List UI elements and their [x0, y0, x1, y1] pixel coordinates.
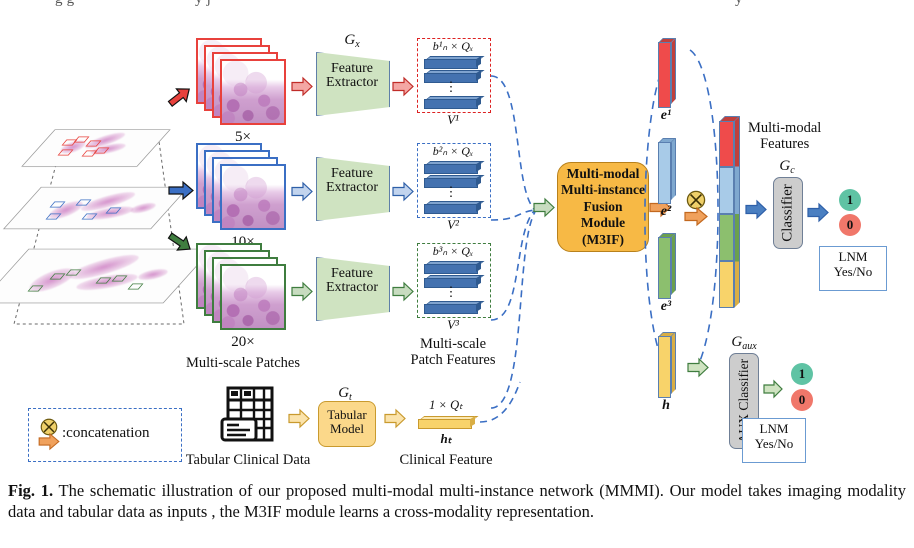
- clinical-feature-link: [478, 380, 538, 430]
- ellipsis-vertical: ⋮: [445, 185, 458, 200]
- embedding-vector-e1: [658, 38, 676, 104]
- feature-dim-v3: b³ₙ × Qₓ: [433, 245, 474, 258]
- bag-label-v1: V¹: [447, 113, 459, 128]
- patch-features-label: Multi-scale Patch Features: [411, 336, 496, 368]
- embedding-label-e1: e¹: [661, 108, 671, 124]
- main-result-line2: Yes/No: [820, 265, 886, 280]
- legend-arrow-icon: [38, 433, 60, 450]
- aux-output-positive: 1: [791, 363, 813, 385]
- classifier-symbol-gc: Gc: [779, 158, 794, 176]
- caption-label: Fig. 1.: [8, 481, 53, 500]
- patch-stack-5x: [196, 38, 282, 124]
- main-classifier-label: Classifier: [780, 184, 797, 242]
- ellipsis-vertical: ⋮: [445, 80, 458, 95]
- tabular-model-line2: Model: [319, 422, 375, 436]
- feature-extractor-20x-label: Feature Extractor: [316, 267, 388, 296]
- clinical-feature-bar: [418, 416, 478, 429]
- caption-text: The schematic illustration of our propos…: [8, 481, 906, 521]
- embedding-label-e3: e³: [661, 299, 671, 315]
- arrow-20x-to-extractor: [291, 282, 313, 301]
- stack-label-20x: 20×: [231, 334, 254, 351]
- arrow-to-5x-stack: [168, 86, 194, 110]
- tabular-model-line1: Tabular: [319, 408, 375, 422]
- extractor-symbol-5x: Gx: [344, 32, 359, 50]
- extractor-line2: Extractor: [316, 281, 388, 295]
- instance-bar: [424, 201, 482, 212]
- extractor-line1: Feature: [316, 62, 388, 76]
- extractor-line2: Extractor: [316, 181, 388, 195]
- arrow-extractor-to-v1: [392, 77, 414, 96]
- ellipsis-vertical: ⋮: [445, 285, 458, 300]
- bag-label-v2: V²: [447, 218, 459, 233]
- embedding-vector-e3: [658, 233, 676, 295]
- patch-features-line2: Patch Features: [411, 352, 496, 368]
- main-output-positive: 1: [839, 189, 861, 211]
- patch-features-line1: Multi-scale: [411, 336, 496, 352]
- multi-scale-wsi-pyramid: [8, 128, 188, 380]
- arrow-to-20x-stack: [166, 232, 192, 256]
- clinical-feature-dim: 1 × Qₜ: [429, 398, 463, 412]
- extractor-line1: Feature: [316, 267, 388, 281]
- instance-bar: [424, 301, 482, 312]
- main-result-box: LNM Yes/No: [819, 246, 887, 291]
- gc-subscript: c: [790, 165, 794, 176]
- clinical-feature-label: hₜ: [440, 432, 451, 447]
- patch-stack-10x: [196, 143, 282, 229]
- main-result-line1: LNM: [820, 250, 886, 265]
- arrow-extractor-to-v2: [392, 182, 414, 201]
- fused-segment-side: [734, 116, 740, 308]
- patch-tile: [220, 264, 286, 330]
- arrow-5x-to-extractor: [291, 77, 313, 96]
- instance-bar: [424, 161, 482, 172]
- mm-features-line1: Multi-modal: [748, 120, 821, 136]
- aux-output-negative: 0: [791, 389, 813, 411]
- feature-extractor-5x-label: Feature Extractor: [316, 62, 388, 91]
- classifier-symbol-gaux: Gaux: [731, 334, 756, 352]
- mm-features-line2: Features: [748, 136, 821, 152]
- clinical-feature-caption: Clinical Feature: [399, 452, 492, 468]
- extractor-line2: Extractor: [316, 76, 388, 90]
- main-classifier[interactable]: Classifier: [773, 177, 803, 249]
- feature-extractor-10x-label: Feature Extractor: [316, 167, 388, 196]
- figure-canvas: g g y j y: [0, 0, 914, 548]
- pyramid-slide-20x: [4, 232, 188, 320]
- arrow-fused-to-classifier: [745, 200, 767, 219]
- arrow-10x-to-extractor: [291, 182, 313, 201]
- previous-line-descenders: g g y j y: [0, 0, 914, 14]
- bag-collector-brace: [489, 40, 549, 430]
- embedding-label-h: h: [662, 398, 670, 414]
- fused-segment-green: [719, 214, 734, 261]
- aux-result-line2: Yes/No: [743, 437, 805, 452]
- gc-symbol: G: [779, 158, 790, 174]
- fused-segment-yellow: [719, 261, 734, 308]
- aux-result-line1: LNM: [743, 422, 805, 437]
- arrow-to-10x-stack: [168, 181, 194, 203]
- arrow-concat-to-fused: [684, 207, 708, 226]
- bag-label-v3: V³: [447, 318, 459, 333]
- gaux-subscript: aux: [742, 341, 756, 352]
- pyramid-slide-5x: [38, 118, 154, 178]
- fused-segment-blue: [719, 167, 734, 214]
- fused-segment-red: [719, 121, 734, 167]
- patch-stack-20x: [196, 243, 282, 329]
- multi-modal-features-label: Multi-modal Features: [748, 120, 821, 152]
- tabular-model[interactable]: Tabular Model: [318, 401, 376, 447]
- embedding-vector-e2: [658, 138, 676, 200]
- multi-modal-feature-vector: [719, 116, 741, 308]
- arrow-extractor-to-v3: [392, 282, 414, 301]
- aux-result-box: LNM Yes/No: [742, 418, 806, 463]
- instance-bar: [424, 261, 482, 272]
- instance-bar: [424, 56, 482, 67]
- arrow-classifier-to-output: [807, 203, 829, 222]
- legend-text: :concatenation: [62, 425, 149, 442]
- instance-bar: [424, 96, 482, 107]
- gaux-symbol: G: [731, 334, 742, 350]
- arrow-model-to-feature: [384, 409, 406, 428]
- gt-symbol: G: [338, 385, 349, 401]
- arrow-tabular-to-model: [288, 409, 310, 428]
- figure-caption: Fig. 1. The schematic illustration of ou…: [8, 480, 906, 523]
- tabular-clinical-data-label: Tabular Clinical Data: [186, 452, 311, 468]
- patch-tile: [220, 164, 286, 230]
- main-output-negative: 0: [839, 214, 861, 236]
- extractor-line1: Feature: [316, 167, 388, 181]
- embedding-vector-h: [658, 332, 676, 394]
- embedding-label-e2: e²: [661, 204, 671, 220]
- multi-scale-patches-label: Multi-scale Patches: [186, 355, 300, 371]
- arrow-h-to-aux: [687, 358, 709, 377]
- tabular-data-icon: [222, 386, 278, 446]
- feature-dim-v2: b²ₙ × Qₓ: [433, 145, 474, 158]
- patch-tile: [220, 59, 286, 125]
- arrow-aux-to-output: [763, 380, 783, 398]
- feature-dim-v1: b¹ₙ × Qₓ: [433, 40, 474, 53]
- arrow-into-m3if: [533, 198, 555, 217]
